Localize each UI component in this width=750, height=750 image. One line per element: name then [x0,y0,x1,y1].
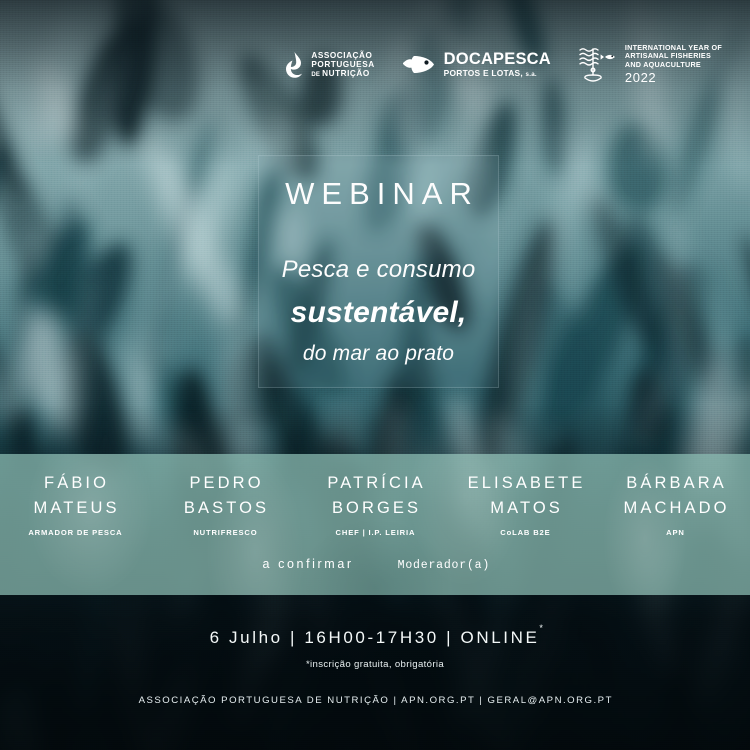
speaker-card: BÁRBARA MACHADO APN [600,471,750,537]
event-mode: ONLINE [461,628,540,647]
speaker-affiliation: CoLAB B2E [454,528,596,537]
apn-logo: ASSOCIAÇÃO PORTUGUESA DE NUTRIÇÃO [283,51,374,79]
event-when-line: 6 Julho | 16H00-17H30 | ONLINE* [0,628,750,648]
logo-bar: ASSOCIAÇÃO PORTUGUESA DE NUTRIÇÃO DOCAPE… [0,44,722,85]
speaker-first-name: ELISABETE [454,471,596,496]
title-panel: WEBINAR Pesca e consumo sustentável, do … [258,155,499,388]
iyafa-logo: INTERNATIONAL YEAR OF ARTISANAL FISHERIE… [577,44,722,85]
speaker-affiliation: APN [604,528,746,537]
speaker-first-name: PEDRO [154,471,296,496]
speakers-row: FÁBIO MATEUS ARMADOR DE PESCA PEDRO BAST… [0,454,750,537]
docapesca-logo: DOCAPESCA PORTOS E LOTAS, s.a. [401,51,551,79]
speaker-affiliation: NUTRIFRESCO [154,528,296,537]
speaker-card: FÁBIO MATEUS ARMADOR DE PESCA [0,471,150,537]
speaker-card: ELISABETE MATOS CoLAB B2E [450,471,600,537]
event-mode-asterisk: * [539,623,543,633]
speaker-first-name: FÁBIO [4,471,146,496]
apn-line3-wrap: DE NUTRIÇÃO [311,69,374,79]
docapesca-sa: s.a. [526,71,537,78]
title-line-1: Pesca e consumo [282,256,476,284]
event-info-block: 6 Julho | 16H00-17H30 | ONLINE* *inscriç… [0,628,750,706]
registration-note: *inscrição gratuita, obrigatória [0,659,750,670]
title-stack: WEBINAR Pesca e consumo sustentável, do … [247,156,510,387]
apn-line3-prefix: DE [311,72,320,79]
speaker-last-name: BASTOS [154,496,296,521]
moderator-role: Moderador(a) [398,559,490,572]
speaker-affiliation: ARMADOR DE PESCA [4,528,146,537]
speaker-first-name: BÁRBARA [604,471,746,496]
moderator-row: a confirmar Moderador(a) [0,557,750,572]
speaker-last-name: MATOS [454,496,596,521]
speaker-last-name: BORGES [304,496,446,521]
event-separator-2: | [446,628,453,647]
docapesca-name: DOCAPESCA [444,51,551,68]
speakers-band: FÁBIO MATEUS ARMADOR DE PESCA PEDRO BAST… [0,454,750,595]
boat-waves-fish-icon [577,45,619,85]
event-separator-1: | [290,628,297,647]
title-line-2: sustentável, [291,296,467,330]
apn-line3-text: NUTRIÇÃO [322,69,370,78]
docapesca-subtitle-wrap: PORTOS E LOTAS, s.a. [444,69,551,78]
apn-line1: ASSOCIAÇÃO [311,51,374,60]
speaker-last-name: MACHADO [604,496,746,521]
iyafa-year: 2022 [625,70,722,85]
organization-footer: ASSOCIAÇÃO PORTUGUESA DE NUTRIÇÃO | APN.… [0,695,750,706]
speaker-card: PATRÍCIA BORGES CHEF | I.P. LEIRIA [300,471,450,537]
speaker-first-name: PATRÍCIA [304,471,446,496]
event-time: 16H00-17H30 [304,628,438,647]
speaker-last-name: MATEUS [4,496,146,521]
droplet-leaf-icon [283,51,304,79]
page-title: WEBINAR [278,176,479,212]
moderator-status: a confirmar [260,557,354,571]
iyafa-line3: AND AQUACULTURE [625,61,722,69]
webinar-poster: ASSOCIAÇÃO PORTUGUESA DE NUTRIÇÃO DOCAPE… [0,0,750,750]
speaker-card: PEDRO BASTOS NUTRIFRESCO [150,471,300,537]
fish-icon [401,52,437,78]
apn-line2: PORTUGUESA [311,60,374,69]
speaker-affiliation: CHEF | I.P. LEIRIA [304,528,446,537]
docapesca-subtitle: PORTOS E LOTAS, [444,68,523,78]
event-date: 6 Julho [210,628,283,647]
title-line-3: do mar ao prato [303,342,454,366]
